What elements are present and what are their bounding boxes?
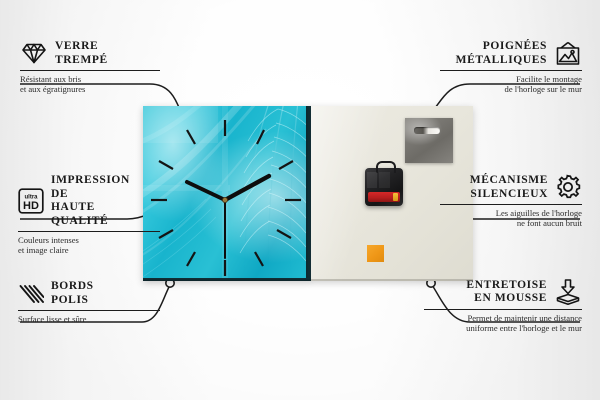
- callout-sub-line1: Les aiguilles de l'horloge: [440, 208, 582, 219]
- clock-center-cap: [222, 197, 227, 202]
- battery: [368, 192, 400, 202]
- callout-title-line1: POIGNÉES: [456, 40, 547, 54]
- arrow-down-pad-icon: [554, 278, 582, 306]
- clock-mechanism-box: [365, 168, 403, 206]
- ultra-hd-icon: ultra HD: [18, 188, 44, 214]
- callout-verre-trempe: VERRE TREMPÉ Résistant aux bris et aux é…: [20, 40, 160, 95]
- callout-sub-line1: Couleurs intenses: [18, 235, 144, 246]
- callout-sub-line2: de l'horloge sur le mur: [440, 84, 582, 95]
- callout-poignees-metalliques: POIGNÉES MÉTALLIQUES Facilite le montage…: [440, 40, 582, 95]
- callout-title-line1: VERRE: [55, 40, 108, 54]
- callout-title-line2: POLIS: [51, 294, 94, 308]
- callout-title-line1: ENTRETOISE: [466, 279, 547, 293]
- clock-minute-hand: [187, 182, 225, 200]
- clock-hour-hand: [225, 176, 269, 200]
- callout-impression-haute-qualite: ultra HD IMPRESSION DE HAUTE QUALITÉ Cou…: [18, 174, 144, 256]
- foam-spacer: [367, 245, 384, 262]
- callout-entretoise-en-mousse: ENTRETOISE EN MOUSSE Permet de maintenir…: [424, 278, 582, 334]
- callout-rule: [20, 70, 160, 71]
- svg-text:HD: HD: [23, 200, 39, 212]
- callout-title-line2: EN MOUSSE: [466, 292, 547, 306]
- callout-rule: [440, 70, 582, 71]
- gear-icon: [555, 174, 582, 201]
- callout-mecanisme-silencieux: MÉCANISME SILENCIEUX Les aiguilles de l'…: [440, 174, 582, 229]
- infographic-canvas: VERRE TREMPÉ Résistant aux bris et aux é…: [0, 0, 600, 400]
- hanger-slot: [414, 127, 440, 134]
- callout-bords-polis: BORDS POLIS Surface lisse et sûre: [18, 280, 144, 324]
- callout-sub-line2: et image claire: [18, 245, 144, 256]
- callout-sub-line1: Surface lisse et sûre: [18, 314, 144, 325]
- picture-frame-icon: [554, 41, 582, 67]
- callout-title-line2: SILENCIEUX: [470, 188, 548, 202]
- clock-front-panel: [143, 106, 311, 281]
- callout-sub-line1: Résistant aux bris: [20, 74, 160, 85]
- callout-title-line2: MÉTALLIQUES: [456, 54, 547, 68]
- clock-dial: [143, 106, 311, 281]
- callout-title-line2: HAUTE QUALITÉ: [51, 201, 144, 228]
- diagonal-lines-icon: [18, 283, 44, 305]
- callout-rule: [440, 204, 582, 205]
- callout-sub-line2: ne font aucun bruit: [440, 218, 582, 229]
- callout-rule: [18, 310, 160, 311]
- callout-sub-line2: et aux égratignures: [20, 84, 160, 95]
- mechanism-markings: [367, 172, 399, 188]
- callout-sub-line2: uniforme entre l'horloge et le mur: [424, 323, 582, 334]
- callout-title-line1: MÉCANISME: [470, 174, 548, 188]
- callout-sub-line1: Facilite le montage: [440, 74, 582, 85]
- metal-hanger-plate: [405, 118, 453, 163]
- callout-title-line1: BORDS: [51, 280, 94, 294]
- diamond-icon: [20, 42, 48, 65]
- callout-title-line1: IMPRESSION DE: [51, 174, 144, 201]
- callout-sub-line1: Permet de maintenir une distance: [424, 313, 582, 324]
- product-photo: [143, 106, 473, 281]
- callout-rule: [424, 309, 582, 310]
- callout-title-line2: TREMPÉ: [55, 54, 108, 68]
- callout-rule: [18, 231, 160, 232]
